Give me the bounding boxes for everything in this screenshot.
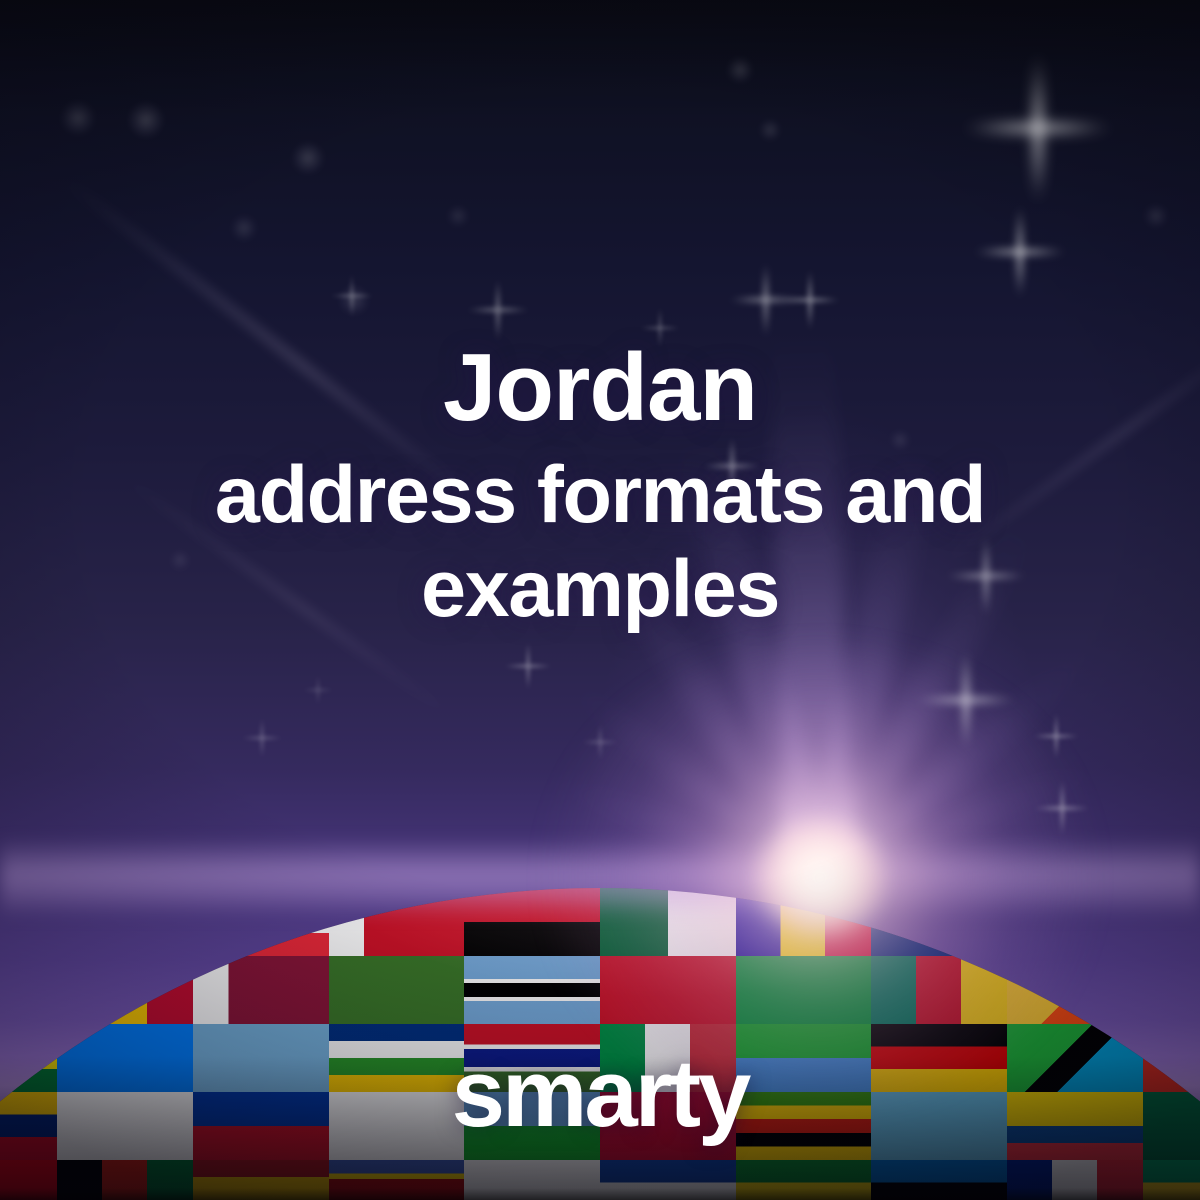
headline-line-3: examples bbox=[0, 543, 1200, 637]
share-card-canvas: Jordan address formats and examples smar… bbox=[0, 0, 1200, 1200]
headline-line-2: address formats and bbox=[0, 449, 1200, 543]
brand-logo: smarty bbox=[0, 1046, 1200, 1142]
smarty-wordmark: smarty bbox=[452, 1046, 749, 1142]
headline-line-1: Jordan bbox=[0, 338, 1200, 439]
page-title: Jordan address formats and examples bbox=[0, 338, 1200, 637]
